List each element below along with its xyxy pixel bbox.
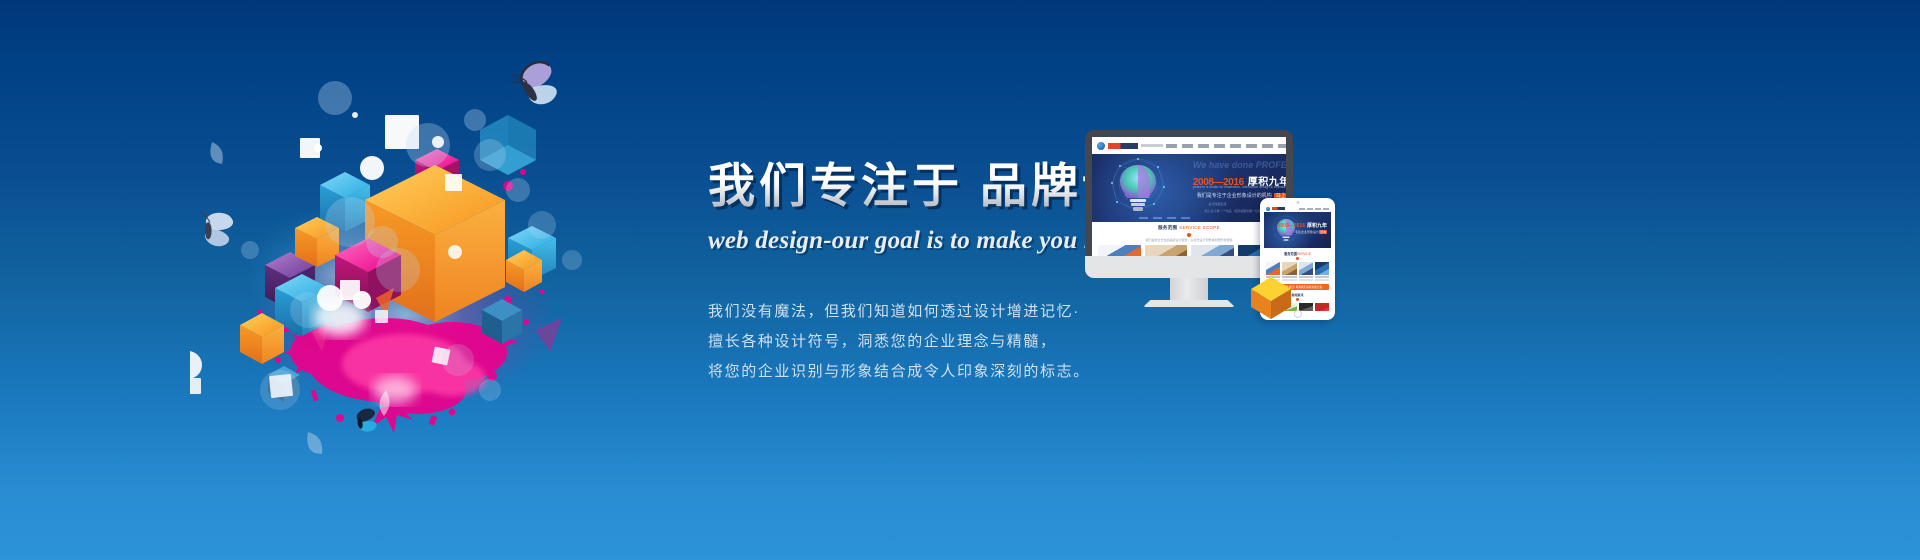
tablet-thumb-3	[1299, 262, 1313, 275]
abstract-artwork	[190, 60, 640, 460]
tablet-caption-3	[1299, 276, 1313, 281]
carousel-dot-4	[1181, 217, 1190, 219]
services-description: 我们提供全方位的品牌设计服务，从标志设计到整体视觉形象塑造	[1092, 238, 1286, 242]
site-hero-banner: We have done PROFESSIONAL project 2008—2…	[1092, 154, 1286, 222]
tablet-logo-icon	[1266, 207, 1270, 211]
tablet-caption-4	[1315, 276, 1329, 281]
tablet-news-bullet	[1296, 298, 1299, 301]
carousel-dot-3	[1167, 217, 1176, 219]
tablet-nav-item-1	[1299, 208, 1305, 210]
tablet-logo-wordmark	[1272, 207, 1285, 210]
nav-item-news	[1230, 144, 1241, 148]
tablet-nav-menu	[1299, 208, 1329, 210]
service-thumb-1	[1098, 245, 1141, 256]
site-navbar	[1092, 137, 1286, 154]
hero-tagline: years in a studio for illustration, inte…	[1193, 185, 1286, 189]
promo-banner: 我们专注于 品牌设计 web design-our goal is to mak…	[0, 0, 1920, 560]
tablet-news-item-3	[1299, 303, 1313, 311]
tablet-hero-banner: 2008—2016厚积九年 专注企业形象设计咨询	[1264, 212, 1331, 248]
service-thumb-3	[1191, 245, 1234, 256]
services-thumbnail-row	[1092, 245, 1286, 256]
nav-item-reviews	[1246, 144, 1257, 148]
monitor-screen: We have done PROFESSIONAL project 2008—2…	[1092, 137, 1286, 256]
nav-item-about	[1182, 144, 1193, 148]
orange-3d-cube	[1248, 273, 1294, 321]
services-title: 服务范围SERVICE SCOPE	[1092, 225, 1286, 231]
tablet-hero-years: 2008—2016厚积九年	[1278, 222, 1327, 229]
tablet-thumb-4	[1315, 262, 1329, 275]
tablet-news-item-4	[1315, 303, 1329, 311]
tablet-nav-item-3	[1315, 208, 1321, 210]
monitor-stand-base	[1143, 300, 1235, 307]
services-bullet	[1187, 233, 1191, 237]
site-logo-icon	[1097, 142, 1105, 150]
monitor-stand-neck	[1170, 278, 1208, 300]
nav-item-contact	[1262, 144, 1273, 148]
lightbulb-globe-icon	[1106, 157, 1170, 219]
nav-item-home	[1166, 144, 1177, 148]
tablet-nav-item-4	[1323, 208, 1329, 210]
tablet-site-navbar	[1264, 205, 1331, 212]
carousel-dot-2	[1153, 217, 1162, 219]
site-logo-wordmark	[1108, 143, 1138, 149]
tablet-hero-subline: 专注企业形象设计咨询	[1295, 230, 1327, 234]
description-line-2: 擅长各种设计符号，洞悉您的企业理念与精髓，	[708, 327, 1268, 357]
hero-carousel-dots	[1139, 217, 1190, 219]
site-services-section: 服务范围SERVICE SCOPE 我们提供全方位的品牌设计服务，从标志设计到整…	[1092, 222, 1286, 256]
hero-fine-line-1: 设计改变生活	[1208, 202, 1226, 206]
site-nav-menu	[1166, 144, 1286, 148]
tablet-services-title: 服务范围SERVICE	[1264, 251, 1331, 256]
carousel-dot-1	[1139, 217, 1148, 219]
tablet-nav-item-2	[1307, 208, 1313, 210]
hero-ghost-text: We have done PROFESSIONAL project	[1193, 160, 1286, 170]
hero-fine-line-2: 用心设计每一个作品 · 用真诚服务每一位客户	[1205, 209, 1265, 213]
device-mockups: We have done PROFESSIONAL project 2008—2…	[1085, 130, 1385, 330]
nav-item-services	[1214, 144, 1225, 148]
site-logo-tagline	[1141, 144, 1163, 147]
nav-item-message	[1278, 144, 1286, 148]
description-line-3: 将您的企业识别与形象结合成令人印象深刻的标志。	[708, 357, 1268, 387]
nav-item-cases	[1198, 144, 1209, 148]
tablet-services-bullet	[1296, 257, 1299, 260]
service-thumb-2	[1145, 245, 1188, 256]
